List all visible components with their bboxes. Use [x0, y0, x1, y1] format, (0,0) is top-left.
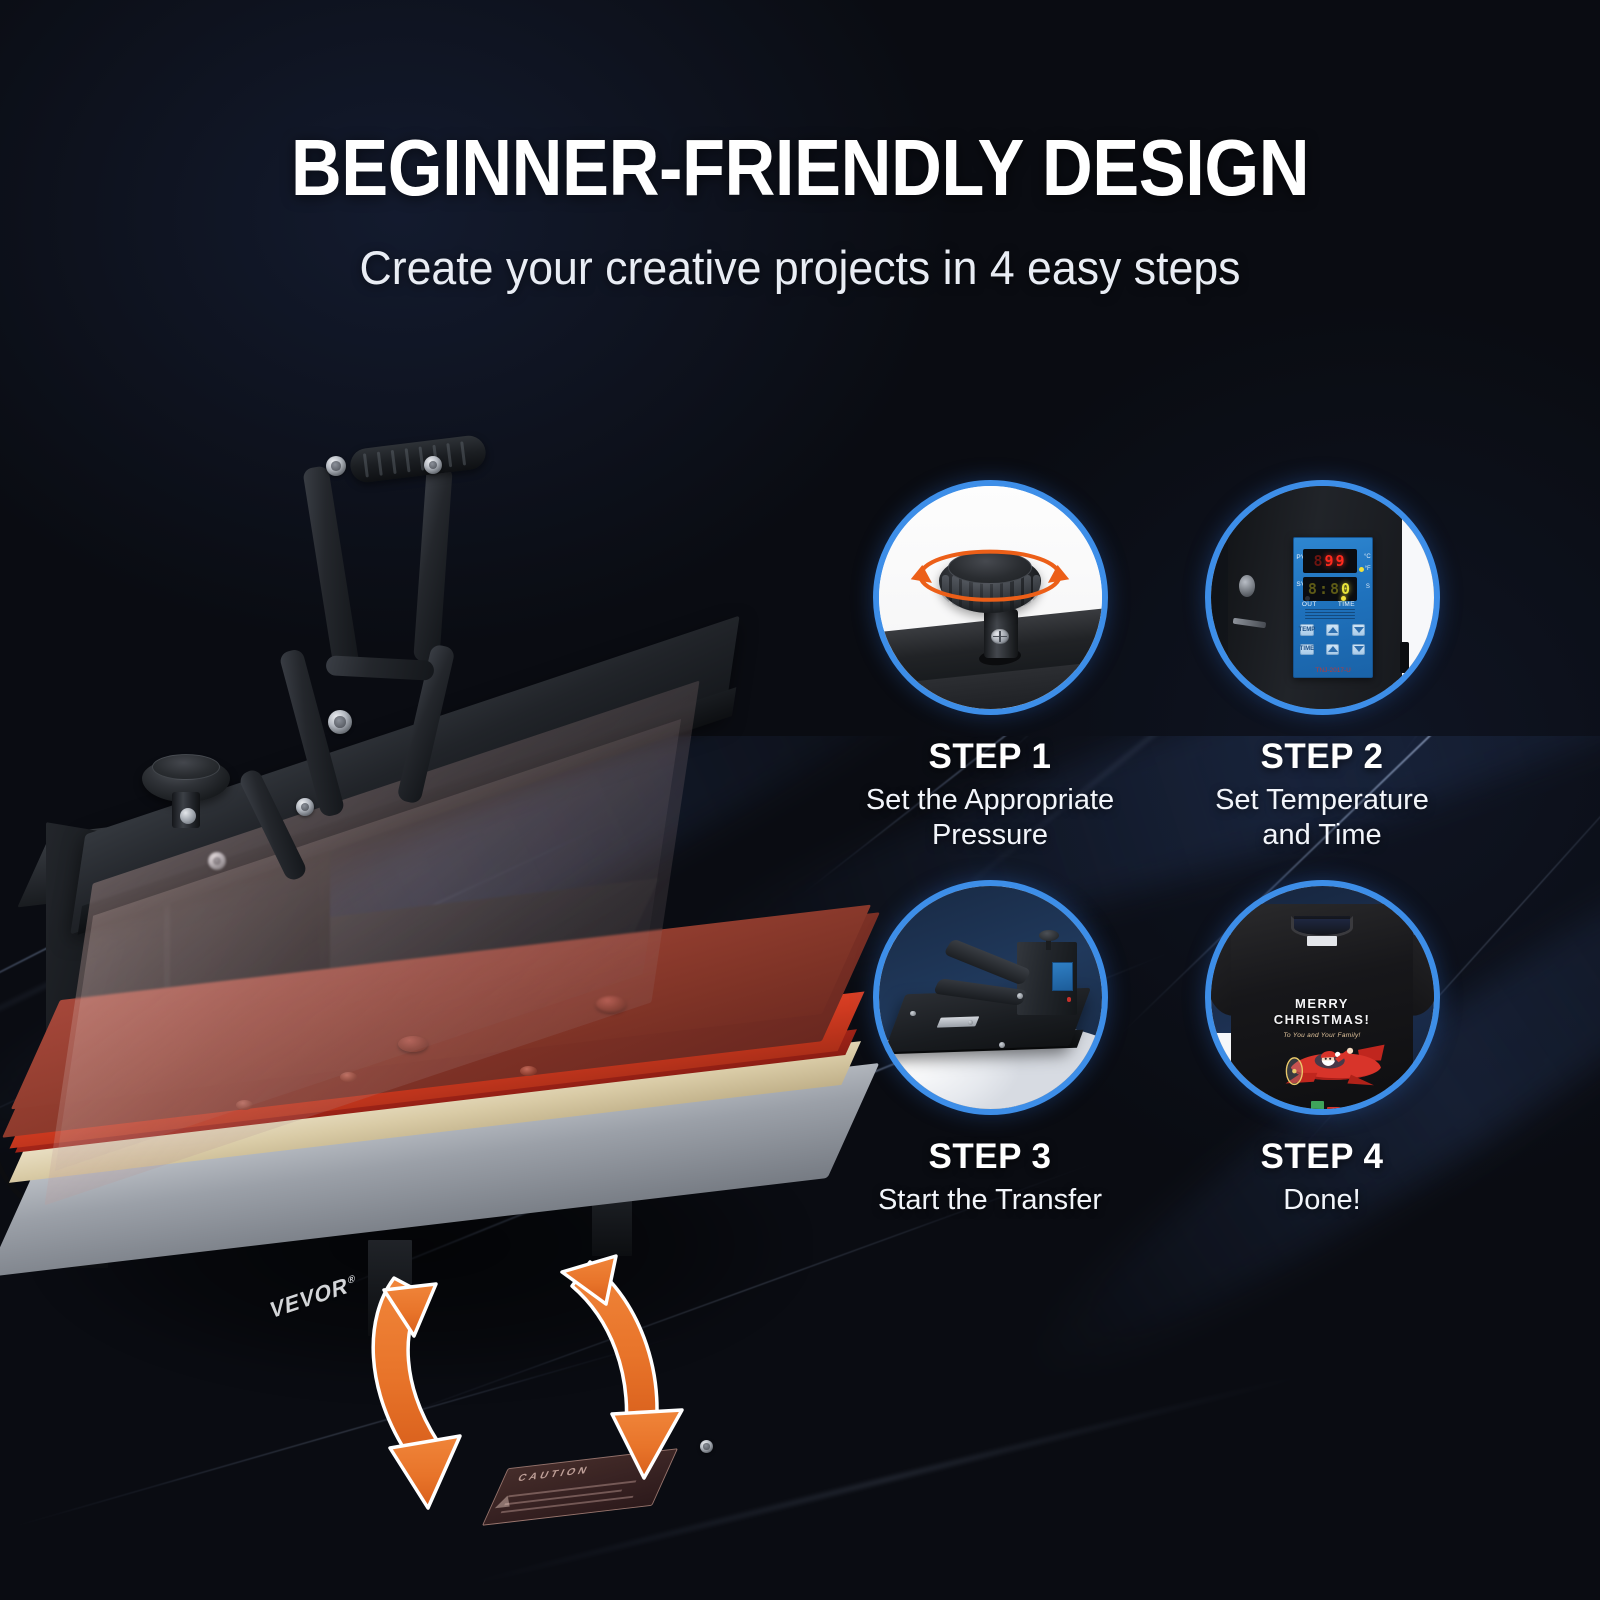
- out-indicator-label: OUT: [1302, 601, 1317, 608]
- step-2-thumbnail[interactable]: PV SV 899 8:80 °C °F S: [1205, 480, 1440, 715]
- handle-arm-upper-left: [302, 465, 360, 671]
- gift-box-green: [1311, 1101, 1324, 1112]
- chevron-down-icon-2: [1354, 646, 1364, 652]
- pressure-knob-screw: [180, 808, 196, 824]
- gift-box-red: [1327, 1107, 1340, 1115]
- closing-motion-arrows: [340, 1260, 740, 1550]
- press-bolt-3: [1017, 993, 1023, 999]
- press-control-screen: [1052, 962, 1072, 991]
- fahrenheit-unit-label: °F: [1365, 566, 1371, 572]
- heat-press-product-image: CAUTION VEVOR®: [0, 400, 880, 1400]
- time-display-dim: 8:8: [1308, 580, 1341, 598]
- press-bolt-1: [910, 1011, 916, 1017]
- handle-pivot-center: [328, 710, 352, 734]
- step-4-number: STEP 4: [1261, 1137, 1384, 1177]
- seconds-unit-label: S: [1366, 584, 1370, 590]
- platen-bolt-front-right: [520, 1066, 537, 1076]
- step-card-3[interactable]: STEP 3 Start the Transfer: [855, 880, 1125, 1218]
- step-card-4[interactable]: MERRY CHRISTMAS! To You and Your Family!: [1187, 880, 1457, 1218]
- step-1-thumbnail[interactable]: [873, 480, 1108, 715]
- step-1-description: Set the Appropriate Pressure: [855, 783, 1125, 854]
- time-down-button[interactable]: [1352, 644, 1365, 656]
- step-1-number: STEP 1: [929, 737, 1052, 777]
- temperature-display-value: 99: [1324, 552, 1346, 570]
- page-title: BEGINNER-FRIENDLY DESIGN: [96, 128, 1504, 208]
- press-bolt-2: [999, 1042, 1005, 1048]
- handle-pivot-lower: [296, 798, 314, 816]
- santa-airplane-graphic: [1282, 1038, 1388, 1094]
- temp-button[interactable]: TEMP: [1300, 624, 1313, 636]
- step-3-description: Start the Transfer: [878, 1183, 1102, 1218]
- temperature-display: 899: [1303, 549, 1358, 573]
- handle-grip[interactable]: [348, 434, 487, 484]
- poster-canvas: BEGINNER-FRIENDLY DESIGN Create your cre…: [0, 0, 1600, 1600]
- page-subtitle: Create your creative projects in 4 easy …: [40, 242, 1560, 294]
- panel-model-number: TNJ-2017-U: [1294, 667, 1372, 674]
- celsius-unit-label: °C: [1364, 554, 1371, 560]
- step-3-thumbnail[interactable]: [873, 880, 1108, 1115]
- arrow-right: [562, 1256, 682, 1478]
- chevron-up-icon: [1328, 627, 1338, 633]
- rotate-arrows-icon: [903, 540, 1077, 611]
- chevron-up-icon-2: [1328, 646, 1338, 652]
- black-tshirt: MERRY CHRISTMAS! To You and Your Family!: [1231, 904, 1414, 1115]
- pressure-knob-cap: [152, 754, 220, 780]
- shirt-neck-tag: [1307, 936, 1336, 947]
- step-3-number: STEP 3: [929, 1137, 1052, 1177]
- time-button[interactable]: TIME: [1300, 644, 1313, 656]
- time-up-button[interactable]: [1326, 644, 1339, 656]
- handle-arm-upper-right: [413, 465, 453, 662]
- shirt-print-heading: MERRY CHRISTMAS!: [1231, 996, 1414, 1029]
- handle-pivot-top-right: [424, 456, 442, 474]
- handle-arm-connector: [326, 655, 435, 681]
- step-card-2[interactable]: PV SV 899 8:80 °C °F S: [1187, 480, 1457, 854]
- shirt-print-line1: MERRY: [1231, 996, 1414, 1012]
- steps-row-top: STEP 1 Set the Appropriate Pressure PV: [855, 480, 1475, 854]
- steps-grid: STEP 1 Set the Appropriate Pressure PV: [855, 480, 1475, 1218]
- step-4-thumbnail[interactable]: MERRY CHRISTMAS! To You and Your Family!: [1205, 880, 1440, 1115]
- time-indicator-label: TIME: [1338, 601, 1355, 608]
- step-card-1[interactable]: STEP 1 Set the Appropriate Pressure: [855, 480, 1125, 854]
- knob-set-screw-icon: [991, 629, 1009, 645]
- control-panel[interactable]: PV SV 899 8:80 °C °F S: [1293, 537, 1373, 677]
- step-2-number: STEP 2: [1261, 737, 1384, 777]
- step-2-description: Set Temperature and Time: [1187, 783, 1457, 854]
- time-display: 8:80: [1303, 577, 1358, 601]
- steps-row-bottom: STEP 3 Start the Transfer: [855, 880, 1475, 1218]
- step-4-description: Done!: [1283, 1183, 1360, 1218]
- panel-vent-lines: [1305, 609, 1355, 619]
- temp-up-button[interactable]: [1326, 624, 1339, 636]
- shirt-collar: [1291, 916, 1353, 937]
- arrow-left: [373, 1278, 460, 1508]
- chevron-down-icon: [1354, 627, 1364, 633]
- handle-pivot-top-left: [326, 456, 346, 476]
- temperature-display-dim: 8: [1313, 552, 1324, 570]
- temp-down-button[interactable]: [1352, 624, 1365, 636]
- shirt-print-line2: CHRISTMAS!: [1231, 1012, 1414, 1028]
- gift-box-gold: [1296, 1109, 1309, 1115]
